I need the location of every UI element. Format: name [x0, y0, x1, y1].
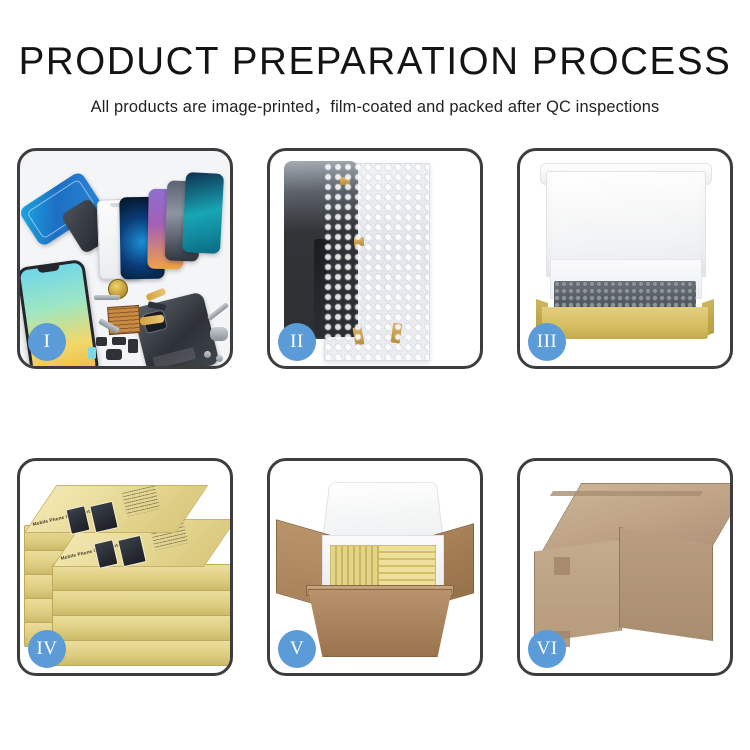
- stacked-box-icon: [52, 589, 230, 616]
- spare-part-bar-icon: [94, 295, 120, 300]
- step-1-illustration: I: [20, 151, 230, 366]
- carton-front-icon: [308, 589, 452, 657]
- step-badge-5: V: [278, 630, 316, 668]
- step-3-illustration: III: [520, 151, 730, 366]
- process-step-panel-2[interactable]: II: [267, 148, 483, 369]
- battery-cell-icon: [88, 347, 96, 359]
- flex-cable-icon: [145, 288, 166, 302]
- screw-icon: [204, 351, 211, 358]
- page-subtitle: All products are image-printed，film-coat…: [0, 82, 750, 117]
- carton-right-face-icon: [619, 527, 713, 641]
- kraft-box-front-icon: [542, 307, 708, 339]
- page-title: PRODUCT PREPARATION PROCESS: [0, 0, 750, 82]
- tape-tab-top-icon: [340, 177, 350, 185]
- process-step-panel-3[interactable]: III: [517, 148, 733, 369]
- ic-chip-icon: [96, 337, 107, 346]
- carton-top-seam-icon: [550, 491, 703, 496]
- step-badge-4: IV: [28, 630, 66, 668]
- process-step-panel-6[interactable]: VI: [517, 458, 733, 676]
- step-5-illustration: V: [270, 461, 480, 673]
- step-2-illustration: II: [270, 151, 480, 366]
- stacked-box-icon: [52, 639, 230, 666]
- process-step-panel-4[interactable]: Mobile Phone Spare Parts Mobile Phone Sp…: [17, 458, 233, 676]
- process-step-panel-5[interactable]: V: [267, 458, 483, 676]
- step-badge-2: II: [278, 323, 316, 361]
- ic-chip-2-icon: [112, 337, 126, 345]
- carton-left-face-icon: [534, 539, 622, 643]
- step-badge-3: III: [528, 323, 566, 361]
- process-step-panel-1[interactable]: I: [17, 148, 233, 369]
- stacked-box-icon: [52, 564, 230, 591]
- screw-2-icon: [216, 355, 223, 362]
- sim-tray-icon: [128, 339, 138, 353]
- styrofoam-lid-icon: [322, 482, 444, 540]
- tool-tip-icon: [210, 327, 228, 341]
- page-header: PRODUCT PREPARATION PROCESS All products…: [0, 0, 750, 117]
- step-6-illustration: VI: [520, 461, 730, 673]
- step-4-illustration: Mobile Phone Spare Parts Mobile Phone Sp…: [20, 461, 230, 673]
- packed-yellow-boxes-icon: [330, 545, 436, 587]
- teal-display-icon: [182, 172, 224, 254]
- carton-tape-upper-icon: [554, 557, 570, 575]
- camera-module-icon: [106, 349, 122, 360]
- step-badge-1: I: [28, 323, 66, 361]
- step-badge-6: VI: [528, 630, 566, 668]
- process-steps-grid: I II III: [17, 148, 733, 676]
- stacked-box-icon: [52, 614, 230, 641]
- tweezers-icon: [207, 302, 229, 321]
- wrapped-flex-cable-icon: [314, 239, 330, 339]
- tape-tab-mid-icon: [354, 237, 364, 246]
